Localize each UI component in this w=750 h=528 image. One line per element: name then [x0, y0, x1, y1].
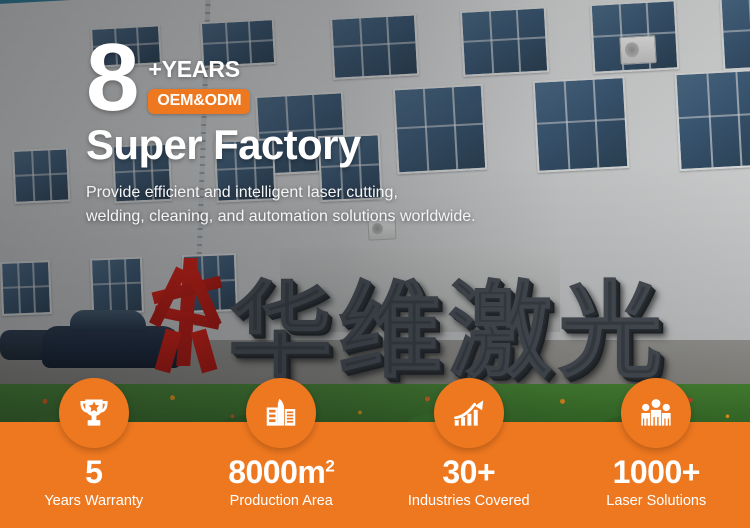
years-side-block: +YEARS OEM&ODM [148, 38, 250, 114]
page-title: Super Factory [86, 123, 556, 167]
headline-block: 8 +YEARS OEM&ODM Super Factory Provide e… [86, 38, 556, 228]
stat-item-industries: 30+ Industries Covered [375, 378, 563, 528]
oem-odm-badge: OEM&ODM [148, 89, 250, 114]
subtitle-line-1: Provide efficient and intelligent laser … [86, 181, 556, 204]
stat-item-production-area: 8000m2 Production Area [188, 378, 376, 528]
stats-row: 5 Years Warranty [0, 378, 750, 528]
stat-number-value: 30+ [442, 454, 495, 490]
stat-number-value: 5 [85, 454, 102, 490]
subtitle: Provide efficient and intelligent laser … [86, 181, 556, 228]
trophy-icon [59, 378, 129, 448]
stat-label: Years Warranty [44, 493, 143, 510]
years-label: +YEARS [148, 58, 250, 81]
stat-number: 5 [85, 456, 102, 490]
stat-item-laser-solutions: 1000+ Laser Solutions [563, 378, 750, 528]
growth-chart-icon [434, 378, 504, 448]
stat-number: 1000+ [613, 456, 700, 490]
stat-number-value: 1000+ [613, 454, 700, 490]
buildings-icon [246, 378, 316, 448]
stat-number-value: 8000m [228, 454, 325, 490]
stat-label: Production Area [230, 493, 333, 510]
years-number: 8 [86, 38, 136, 119]
stat-label: Laser Solutions [606, 493, 706, 510]
years-row: 8 +YEARS OEM&ODM [86, 38, 556, 119]
stat-number-superscript: 2 [325, 456, 334, 475]
people-group-icon [621, 378, 691, 448]
stat-label: Industries Covered [408, 493, 530, 510]
stat-number: 8000m2 [228, 456, 334, 490]
stat-number: 30+ [442, 456, 495, 490]
subtitle-line-2: welding, cleaning, and automation soluti… [86, 205, 556, 228]
super-factory-banner: 华 维 激 光 8 +YEARS OEM&ODM Super Factory P… [0, 0, 750, 528]
stat-item-warranty: 5 Years Warranty [0, 378, 188, 528]
